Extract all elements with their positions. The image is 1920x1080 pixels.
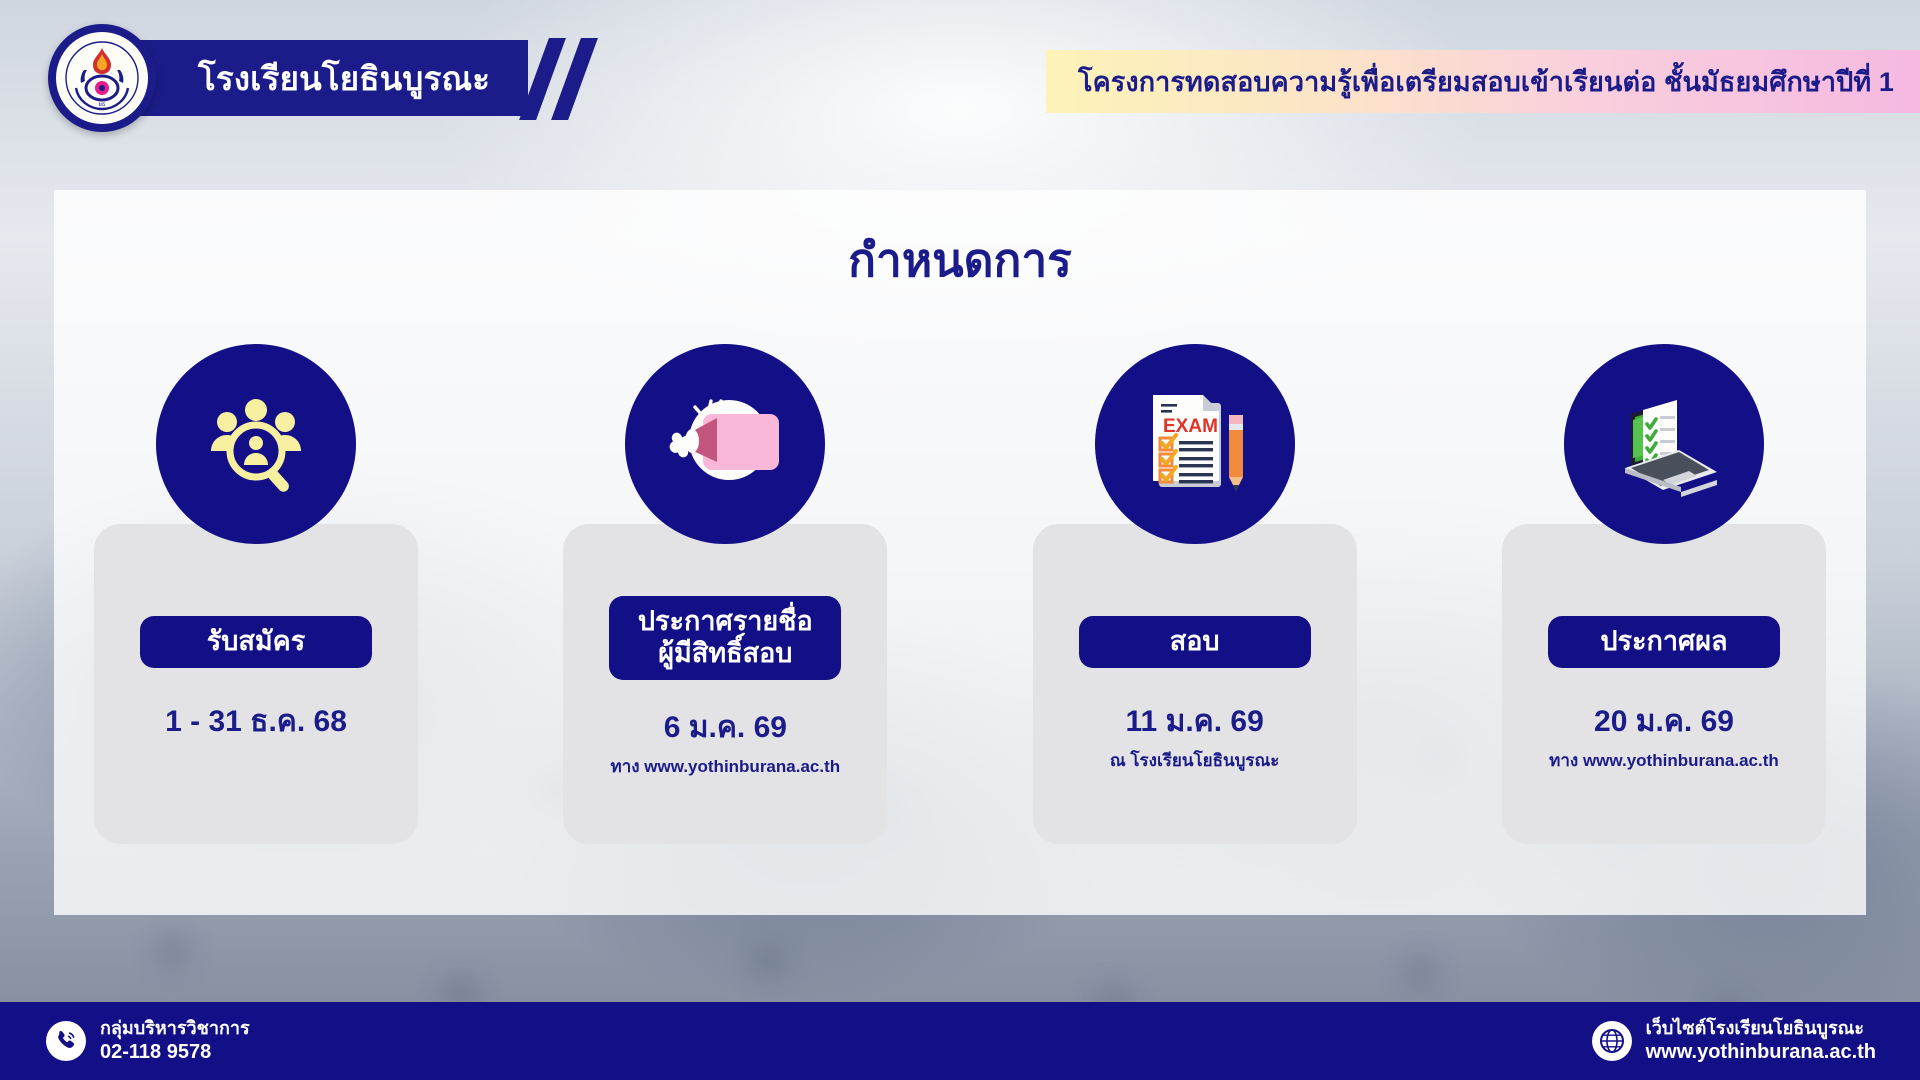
footer-website-url: www.yothinburana.ac.th [1646, 1040, 1876, 1066]
card-icon-circle: EXAM [1095, 344, 1295, 544]
card-date: 20 ม.ค. 69 [1594, 698, 1734, 745]
megaphone-announcement-icon [661, 388, 789, 500]
project-title: โครงการทดสอบความรู้เพื่อเตรียมสอบเข้าเรี… [1078, 60, 1894, 103]
exam-paper-pencil-icon: EXAM [1135, 385, 1255, 503]
footer-phone-icon-wrap [46, 1021, 86, 1061]
page-title: กำหนดการ [54, 224, 1866, 297]
people-search-icon [197, 389, 315, 499]
school-crest: ยธ [48, 24, 156, 132]
footer-globe-icon-wrap [1592, 1021, 1632, 1061]
card-note: ทาง www.yothinburana.ac.th [611, 753, 841, 780]
svg-text:ยธ: ยธ [98, 101, 106, 108]
school-crest-flame-icon: ยธ [60, 36, 144, 120]
card-label-line2: ผู้มีสิทธิ์สอบ [631, 638, 819, 670]
card-label: ประกาศรายชื่อ ผู้มีสิทธิ์สอบ [609, 596, 841, 680]
card-label-line1: ประกาศรายชื่อ [631, 606, 819, 638]
card-note: ณ โรงเรียนโยธินบูรณะ [1110, 747, 1280, 774]
card-label: รับสมัคร [140, 616, 372, 668]
phone-ringing-icon [53, 1028, 79, 1054]
card-date: 1 - 31 ธ.ค. 68 [165, 698, 347, 745]
card-label: สอบ [1079, 616, 1311, 668]
footer-contact-phone: 02-118 9578 [100, 1040, 250, 1066]
card-date: 11 ม.ค. 69 [1126, 698, 1264, 745]
footer-website-label: เว็บไซต์โรงเรียนโยธินบูรณะ [1646, 1017, 1876, 1040]
schedule-card-results[interactable]: ประกาศผล 20 ม.ค. 69 ทาง www.yothinburana… [1502, 524, 1826, 844]
card-icon-circle [625, 344, 825, 544]
card-icon-circle [1564, 344, 1764, 544]
exam-label: EXAM [1163, 416, 1218, 437]
globe-icon [1599, 1028, 1625, 1054]
laptop-checklist-icon [1601, 388, 1727, 500]
schedule-card-eligible-list[interactable]: ประกาศรายชื่อ ผู้มีสิทธิ์สอบ 6 ม.ค. 69 ท… [563, 524, 887, 844]
schedule-cards: รับสมัคร 1 - 31 ธ.ค. 68 [94, 340, 1826, 860]
card-label: ประกาศผล [1548, 616, 1780, 668]
footer-contact-text: กลุ่มบริหารวิชาการ 02-118 9578 [100, 1017, 250, 1066]
content-panel: กำหนดการ [54, 190, 1866, 915]
project-title-banner: โครงการทดสอบความรู้เพื่อเตรียมสอบเข้าเรี… [1046, 50, 1920, 113]
footer-contact: กลุ่มบริหารวิชาการ 02-118 9578 [46, 1017, 250, 1066]
card-date: 6 ม.ค. 69 [664, 704, 787, 751]
footer-website-text: เว็บไซต์โรงเรียนโยธินบูรณะ www.yothinbur… [1646, 1017, 1876, 1066]
schedule-card-exam[interactable]: EXAM [1033, 524, 1357, 844]
school-name: โรงเรียนโยธินบูรณะ [198, 52, 490, 105]
schedule-card-registration[interactable]: รับสมัคร 1 - 31 ธ.ค. 68 [94, 524, 418, 844]
footer-contact-dept: กลุ่มบริหารวิชาการ [100, 1017, 250, 1040]
card-icon-circle [156, 344, 356, 544]
card-note: ทาง www.yothinburana.ac.th [1549, 747, 1779, 774]
poster-root: โรงเรียนโยธินบูรณะ ยธ [0, 0, 1920, 1080]
footer-website[interactable]: เว็บไซต์โรงเรียนโยธินบูรณะ www.yothinbur… [1592, 1017, 1876, 1066]
footer: กลุ่มบริหารวิชาการ 02-118 9578 เว็บไซต์โ… [0, 1002, 1920, 1080]
